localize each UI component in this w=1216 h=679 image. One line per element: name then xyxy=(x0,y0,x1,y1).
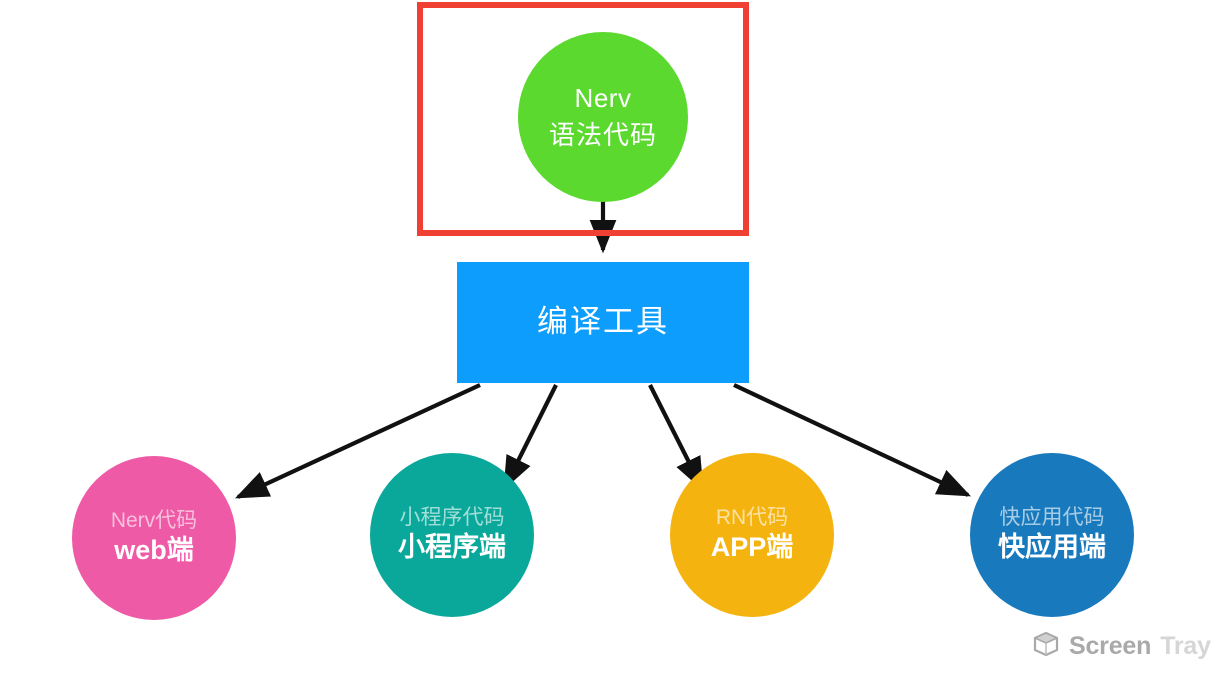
node-source-line1: Nerv xyxy=(575,83,632,114)
node-output-quickapp-main: 快应用端 xyxy=(998,532,1106,564)
node-output-web-sub: Nerv代码 xyxy=(111,509,197,534)
watermark-text-primary: Screen xyxy=(1069,632,1151,661)
arrow-tool-to-app xyxy=(650,385,702,488)
node-output-miniprogram[interactable]: 小程序代码 小程序端 xyxy=(370,453,534,617)
watermark: Screen Tray xyxy=(1032,630,1211,663)
node-source-line2: 语法代码 xyxy=(549,120,657,151)
node-compile-tool[interactable]: 编译工具 xyxy=(457,262,749,383)
cube-icon xyxy=(1032,630,1060,663)
node-output-quickapp-sub: 快应用代码 xyxy=(1000,506,1105,531)
node-output-app-sub: RN代码 xyxy=(716,506,788,531)
watermark-text-secondary: Tray xyxy=(1160,632,1211,661)
diagram-canvas: Nerv 语法代码 编译工具 Nerv代码 web端 小程序代码 小程序端 RN… xyxy=(0,0,1216,679)
node-output-web[interactable]: Nerv代码 web端 xyxy=(72,456,236,620)
arrow-tool-to-miniprogram xyxy=(505,385,556,487)
node-output-quickapp[interactable]: 快应用代码 快应用端 xyxy=(970,453,1134,617)
node-output-app[interactable]: RN代码 APP端 xyxy=(670,453,834,617)
node-output-app-main: APP端 xyxy=(711,532,794,564)
node-compile-tool-label: 编译工具 xyxy=(537,304,669,341)
node-output-miniprogram-main: 小程序端 xyxy=(398,532,506,564)
node-output-web-main: web端 xyxy=(114,535,194,567)
node-output-miniprogram-sub: 小程序代码 xyxy=(400,506,505,531)
node-source-nerv[interactable]: Nerv 语法代码 xyxy=(518,32,688,202)
